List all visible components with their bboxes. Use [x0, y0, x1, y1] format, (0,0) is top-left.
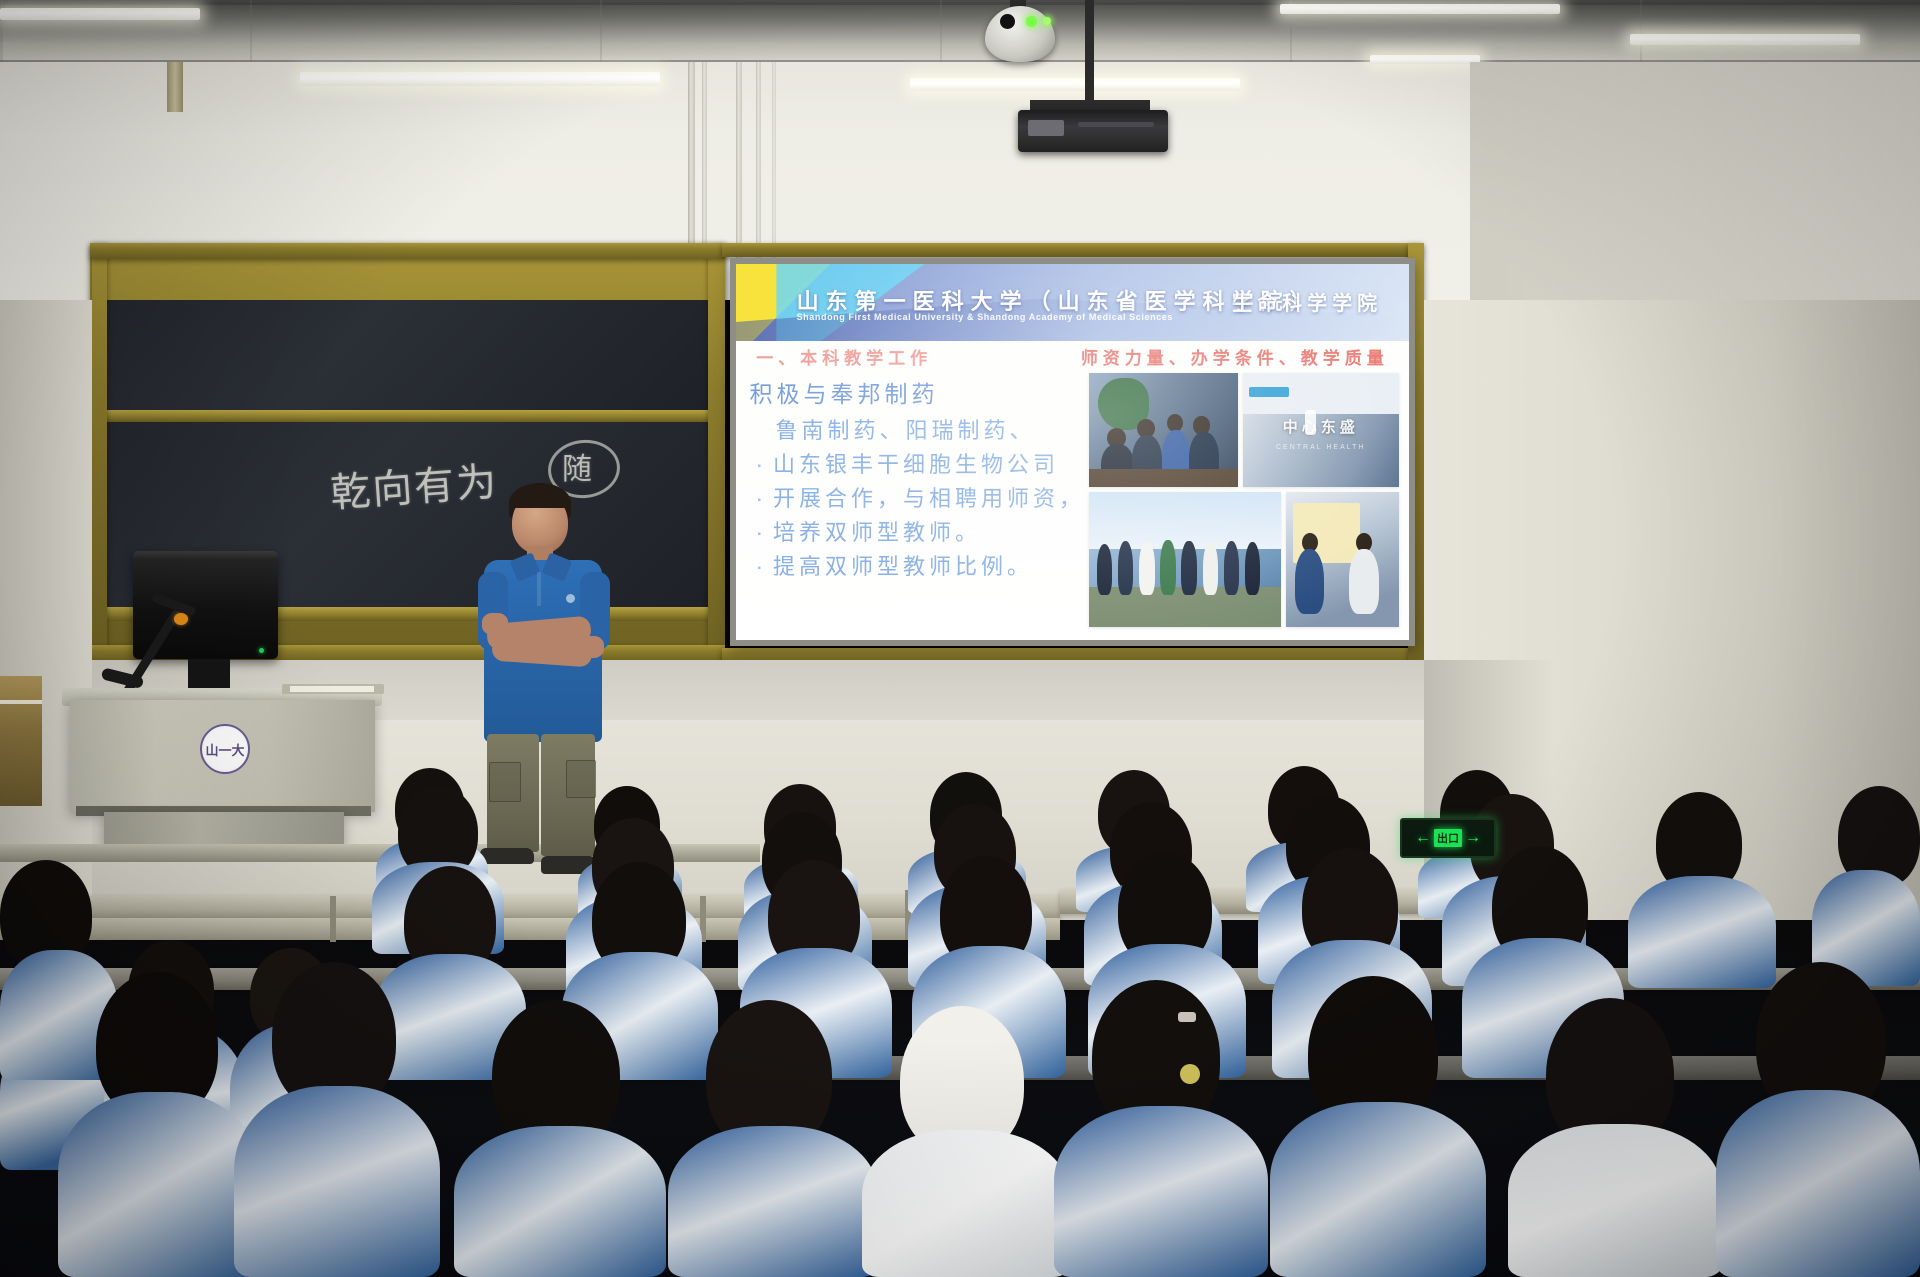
audience-body — [234, 1086, 440, 1277]
monitor-power-led-icon — [259, 648, 264, 653]
person-body-icon — [1181, 541, 1196, 595]
audience-body — [862, 1130, 1070, 1277]
speaker-shirt-logo-icon — [566, 594, 575, 603]
ceiling-band — [0, 0, 1920, 62]
sky-icon — [1089, 492, 1281, 549]
person-body-icon — [1203, 542, 1218, 595]
slide-bullet: 积极与奉邦制药 — [749, 375, 1072, 409]
projector-rod — [1085, 0, 1094, 106]
exit-label: 出口 — [1434, 829, 1462, 847]
slide-banner-college: 生命科学学院 — [1232, 287, 1382, 316]
audience-body — [1628, 876, 1776, 988]
speaker-shoe — [480, 848, 534, 864]
left-wall-panel — [0, 300, 92, 920]
microphone-head-icon — [174, 613, 188, 625]
camera-lens-icon — [1000, 14, 1015, 29]
audience-body — [668, 1126, 878, 1277]
ceiling-panel-joint — [250, 0, 252, 62]
wall-conduit — [167, 62, 183, 112]
person-body-icon — [1349, 549, 1378, 614]
slide-photo-logo-text: 中心东盛 — [1283, 416, 1359, 437]
slide-title-row: 一、本科教学工作 师资力量、办学条件、教学质量 — [736, 341, 1409, 371]
slide-bullet: 培养双师型教师。 — [757, 515, 1072, 547]
person-body-icon — [1139, 542, 1154, 595]
ceiling-light — [1630, 34, 1860, 45]
left-shelf — [0, 676, 42, 806]
podium-paper — [290, 686, 374, 692]
slide-photo-group — [1089, 492, 1281, 627]
ceiling-light — [0, 8, 200, 20]
speaker-placket — [537, 572, 541, 606]
speaker-cargo-pocket — [566, 760, 596, 798]
ceiling-seam — [0, 2, 1920, 5]
slide-photo-signing — [1286, 492, 1399, 627]
podium-lower — [104, 812, 344, 844]
monitor-stand — [188, 659, 230, 691]
crest-label: 山一大 — [205, 740, 244, 759]
blackboard-surface-upper — [104, 300, 709, 410]
board-frame-extension — [722, 243, 1422, 257]
exit-arrow-left-icon: ← — [1415, 830, 1431, 846]
left-shelf-edge — [0, 700, 42, 704]
projection-screen[interactable]: 山东第一医科大学（山东省医学科学院） Shandong First Medica… — [736, 264, 1409, 640]
blackboard-rail — [96, 410, 716, 422]
camera-led-icon — [1026, 16, 1037, 27]
slide-bullet: 山东银丰干细胞生物公司 — [757, 447, 1072, 479]
speaker-hand — [482, 613, 508, 635]
person-body-icon — [1160, 540, 1175, 595]
ceiling-panel-joint — [1640, 0, 1642, 62]
accent-bar-icon — [1249, 387, 1290, 397]
chalk-mark: 随 — [562, 444, 594, 488]
slide-bullet: 提高双师型教师比例。 — [757, 549, 1072, 581]
blackboard-leg — [708, 243, 725, 661]
person-body-icon — [1295, 549, 1324, 614]
ceiling-panel-joint — [600, 0, 602, 62]
speaker-hair-top — [512, 486, 568, 508]
logo-mark-icon — [1305, 410, 1316, 435]
hair-flower-icon — [1180, 1064, 1200, 1084]
presentation-slide: 山东第一医科大学（山东省医学科学院） Shandong First Medica… — [736, 264, 1409, 640]
exit-sign: ← 出口 → — [1400, 818, 1496, 858]
audience-body — [58, 1092, 260, 1277]
lecture-hall-photo: 乾向有为 随 山东第一医科大学（山东省医学科学院） Shandong First… — [0, 0, 1920, 1277]
person-body-icon — [1118, 541, 1133, 595]
blackboard-leg — [92, 243, 107, 661]
speaker-cargo-pocket — [489, 762, 521, 802]
ceiling-light — [910, 78, 1240, 91]
audience-body — [1054, 1106, 1268, 1277]
projector-vent-icon — [1078, 122, 1154, 127]
speaker-hand — [578, 636, 604, 658]
slide-bullet: 鲁南制药、阳瑞制药、 — [775, 413, 1072, 445]
person-body-icon — [1245, 542, 1260, 595]
exit-arrow-right-icon: → — [1465, 830, 1481, 846]
audience-body — [454, 1126, 666, 1277]
ceiling-panel-joint — [940, 0, 942, 62]
audience-body — [1716, 1090, 1920, 1277]
chalk-note: 乾向有为 — [328, 449, 500, 519]
slide-title-right: 师资力量、办学条件、教学质量 — [1081, 344, 1389, 369]
hair-clip-icon — [1178, 1012, 1196, 1022]
projector-lens-icon — [1028, 120, 1064, 136]
camera-led-icon — [1043, 17, 1051, 25]
blackboard-top-rail — [90, 243, 725, 259]
slide-photo-meeting — [1089, 373, 1238, 487]
person-body-icon — [1224, 541, 1239, 595]
audience-body — [1508, 1124, 1722, 1277]
slide-banner-title-en: Shandong First Medical University & Shan… — [797, 312, 1173, 322]
ceiling-light — [1370, 55, 1480, 64]
table-icon — [1089, 469, 1238, 487]
person-body-icon — [1097, 544, 1112, 595]
right-sidewall — [1470, 62, 1920, 312]
projector-bracket — [1030, 100, 1150, 110]
podium-university-crest: 山一大 — [200, 724, 250, 774]
slide-photo-lab-logo: 中心东盛 CENTRAL HEALTH — [1243, 373, 1399, 487]
slide-title-left: 一、本科教学工作 — [756, 344, 932, 369]
audience-body — [1270, 1102, 1486, 1277]
slide-bullet: 开展合作，与相聘用师资， — [757, 481, 1072, 513]
ceiling-light — [1280, 4, 1560, 14]
slide-banner: 山东第一医科大学（山东省医学科学院） Shandong First Medica… — [736, 264, 1409, 341]
ceiling-light — [300, 72, 660, 86]
slide-bullet-list: 积极与奉邦制药 鲁南制药、阳瑞制药、 山东银丰干细胞生物公司 开展合作，与相聘用… — [749, 375, 1072, 633]
slide-photo-logo-subtext: CENTRAL HEALTH — [1276, 444, 1365, 451]
slide-photo-grid: 中心东盛 CENTRAL HEALTH — [1089, 373, 1399, 632]
